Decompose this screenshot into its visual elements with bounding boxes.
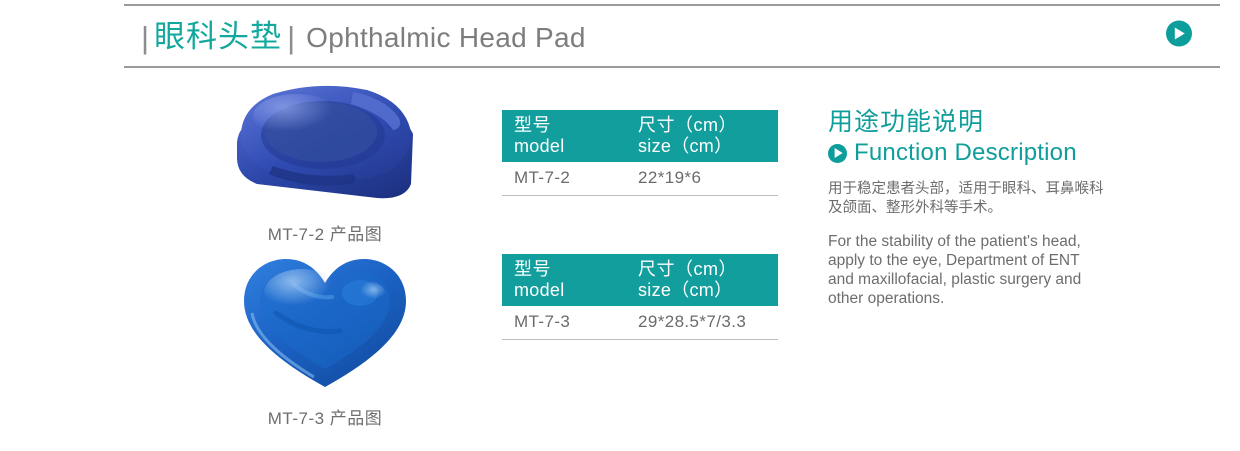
table-row: MT-7-2 22*19*6 [502, 162, 778, 196]
cell-model: MT-7-3 [502, 312, 626, 332]
product-block-mt-7-2: MT-7-2 产品图 [200, 80, 450, 245]
play-circle-icon [1166, 21, 1192, 47]
table-header-size: 尺寸（cm） size（cm） [626, 115, 778, 156]
table-header-model: 型号 model [502, 115, 626, 156]
table-header-model-en: model [514, 280, 626, 300]
table-header-size-en: size（cm） [638, 136, 778, 156]
product-image-column: MT-7-2 产品图 [200, 80, 450, 429]
head-pad-mt-7-2-photo [227, 80, 423, 210]
table-header-size-cn: 尺寸（cm） [638, 259, 778, 280]
product-caption-mt-7-2: MT-7-2 产品图 [200, 220, 450, 245]
description-title-en-row: Function Description [828, 140, 1118, 166]
description-title-cn: 用途功能说明 [828, 108, 1118, 137]
table-row: MT-7-3 29*28.5*7/3.3 [502, 306, 778, 340]
product-image-mt-7-3 [200, 251, 450, 396]
cell-size: 29*28.5*7/3.3 [626, 312, 778, 332]
product-block-mt-7-3: MT-7-3 产品图 [200, 251, 450, 429]
spec-tables: 型号 model 尺寸（cm） size（cm） MT-7-2 22*19*6 … [502, 110, 782, 340]
product-caption-mt-7-3: MT-7-3 产品图 [200, 404, 450, 429]
table-header-model-cn: 型号 [514, 259, 626, 280]
page-header: | 眼科头垫 | Ophthalmic Head Pad [124, 4, 1220, 68]
table-header-model-cn: 型号 [514, 115, 626, 136]
spec-table-mt-7-2: 型号 model 尺寸（cm） size（cm） MT-7-2 22*19*6 [502, 110, 778, 196]
page-title-cn: 眼科头垫 [154, 21, 282, 52]
table-header-model: 型号 model [502, 259, 626, 300]
description-title-en: Function Description [854, 140, 1077, 166]
spec-table-mt-7-3: 型号 model 尺寸（cm） size（cm） MT-7-3 29*28.5*… [502, 254, 778, 340]
title-divider-left: | [141, 22, 149, 53]
description-body-cn: 用于稳定患者头部，适用于眼科、耳鼻喉科及颌面、整形外科等手术。 [828, 180, 1108, 218]
title-divider-right: | [287, 22, 295, 53]
description-body-en: For the stability of the patient's head,… [828, 232, 1108, 308]
table-header-size: 尺寸（cm） size（cm） [626, 259, 778, 300]
table-header-size-en: size（cm） [638, 280, 778, 300]
table-header-size-cn: 尺寸（cm） [638, 115, 778, 136]
function-description-panel: 用途功能说明 Function Description 用于稳定患者头部，适用于… [828, 108, 1118, 308]
play-circle-icon [828, 144, 847, 163]
table-header-row: 型号 model 尺寸（cm） size（cm） [502, 254, 778, 306]
table-header-row: 型号 model 尺寸（cm） size（cm） [502, 110, 778, 162]
header-play-button[interactable] [1166, 21, 1192, 52]
table-header-model-en: model [514, 136, 626, 156]
cell-model: MT-7-2 [502, 168, 626, 188]
cell-size: 22*19*6 [626, 168, 778, 188]
head-pad-mt-7-3-photo [236, 251, 414, 393]
header-title-group: | 眼科头垫 | Ophthalmic Head Pad [136, 21, 586, 52]
page-title-en: Ophthalmic Head Pad [306, 24, 586, 52]
product-image-mt-7-2 [200, 80, 450, 210]
